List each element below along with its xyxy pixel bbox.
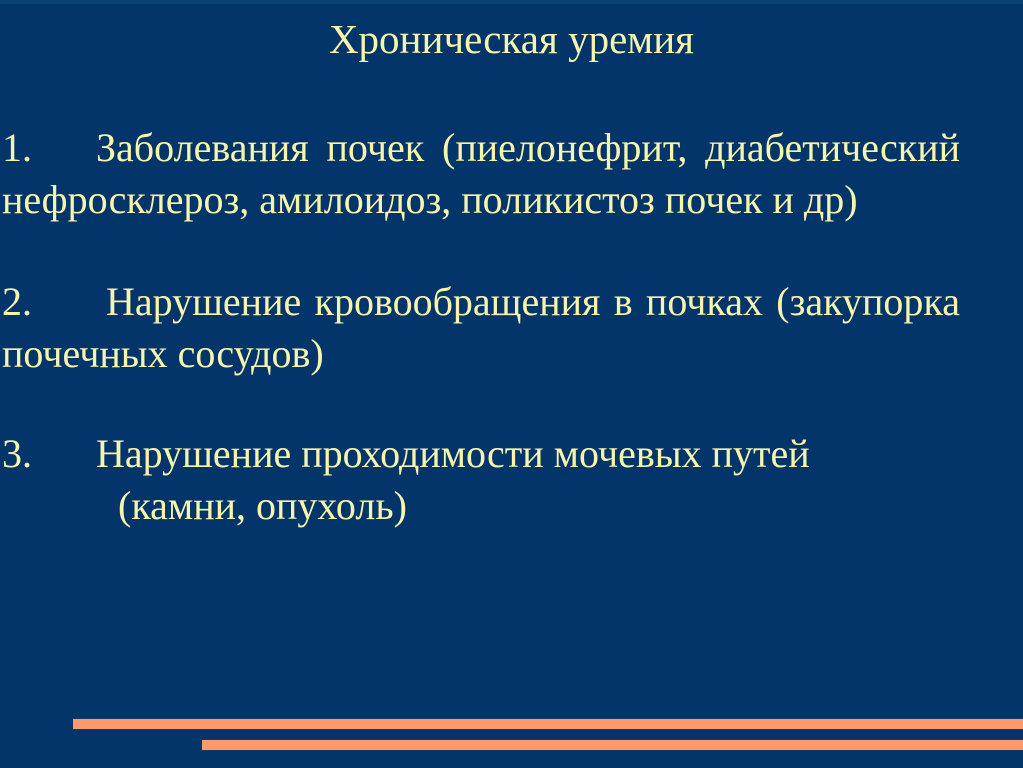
decorative-rule-lower [202, 739, 1023, 751]
slide-canvas: Хроническая уремия 1.Заболевания почек (… [0, 0, 1023, 768]
list-item-1-text: Заболевания почек (пиелонефрит, диабетич… [2, 125, 960, 222]
list-item-3-text-line1: Нарушение проходимости мочевых путей [96, 431, 810, 476]
decorative-rule-upper [73, 718, 1023, 730]
slide-top-edge-strip [0, 0, 1023, 4]
list-item-3-continuation: (камни, опухоль) [2, 480, 960, 532]
spacer-after-item-1 [2, 226, 960, 276]
list-item-2-number: 2. [2, 279, 32, 324]
list-item-1: 1.Заболевания почек (пиелонефрит, диабет… [2, 122, 960, 226]
list-item-1-number: 1. [2, 125, 32, 170]
spacer-after-item-2 [2, 380, 960, 428]
list-item-2: 2.Нарушение кровообращения в почках (зак… [2, 276, 960, 380]
slide-body: 1.Заболевания почек (пиелонефрит, диабет… [2, 122, 960, 532]
list-item-3-text-line2: (камни, опухоль) [118, 483, 407, 528]
list-item-2-text: Нарушение кровообращения в почках (закуп… [2, 279, 960, 376]
list-item-3-number: 3. [2, 431, 32, 476]
list-item-3: 3.Нарушение проходимости мочевых путей [2, 428, 960, 480]
page-title: Хроническая уремия [0, 15, 1023, 63]
